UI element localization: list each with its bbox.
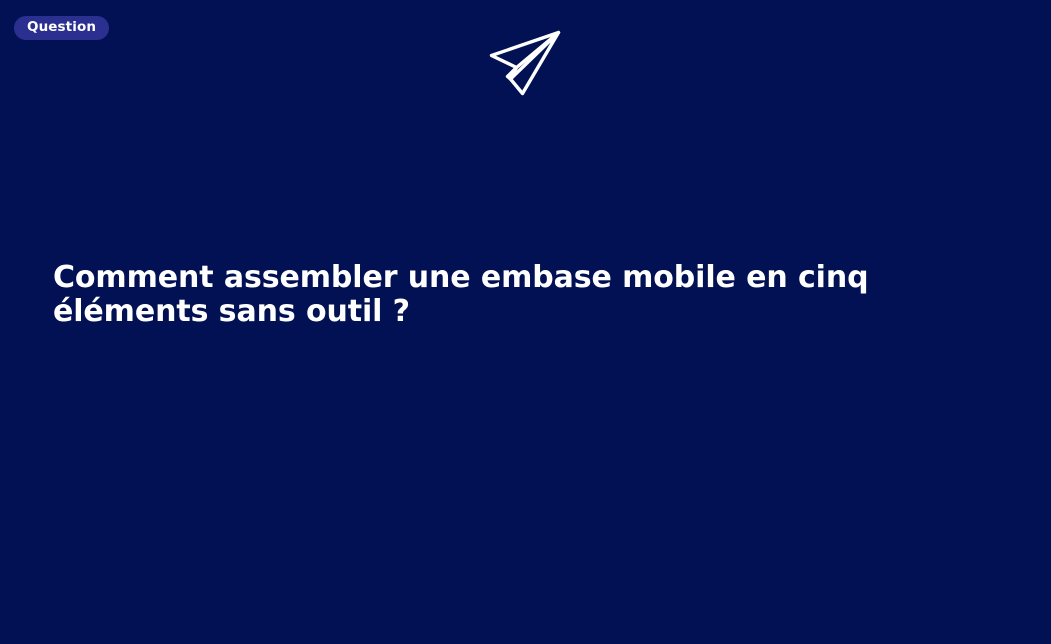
page-title: Comment assembler une embase mobile en c… <box>53 261 998 328</box>
logo[interactable] <box>0 29 1051 97</box>
question-page: Question Comment assembler une embase mo… <box>0 0 1051 644</box>
paper-plane-icon <box>488 29 564 97</box>
